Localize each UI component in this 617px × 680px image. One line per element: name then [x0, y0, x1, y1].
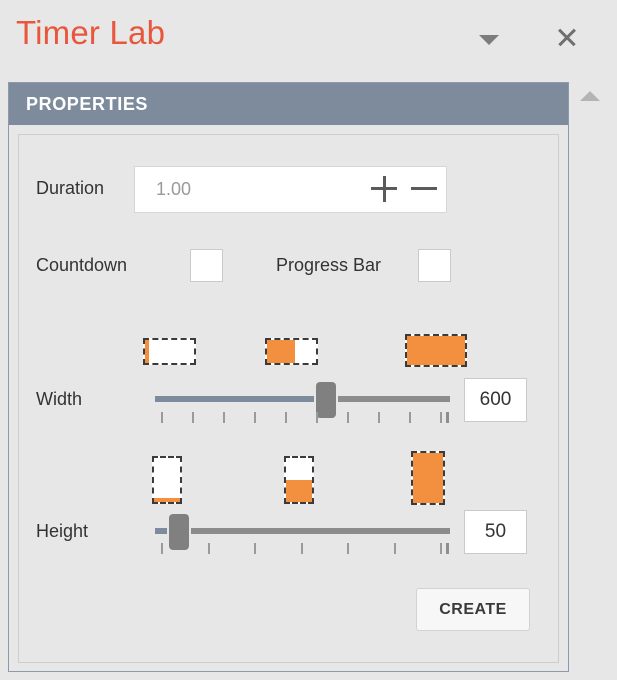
width-value-input[interactable]: 600 [464, 378, 527, 422]
slider-tick [316, 412, 318, 423]
chevron-down-icon [479, 35, 499, 45]
countdown-label: Countdown [36, 255, 127, 276]
properties-panel-title: PROPERTIES [26, 94, 148, 115]
close-button[interactable] [550, 20, 584, 54]
close-icon [550, 20, 584, 54]
height-value: 50 [465, 521, 526, 543]
width-preview-medium [265, 338, 318, 365]
slider-tick [394, 543, 396, 554]
height-preview-fill [286, 480, 312, 502]
plus-icon[interactable] [368, 172, 400, 206]
app-title: Timer Lab [16, 14, 165, 52]
width-label: Width [36, 389, 82, 410]
slider-tick [223, 412, 225, 423]
scrollbar-up-button[interactable] [578, 86, 602, 108]
progress-bar-label: Progress Bar [276, 255, 381, 276]
properties-panel-header: PROPERTIES [9, 83, 568, 125]
width-preview-fill [407, 336, 465, 365]
height-preview-fill [154, 498, 180, 502]
height-preview-small [152, 456, 182, 504]
slider-tick [378, 412, 380, 423]
width-preview-large [405, 334, 467, 367]
width-preview-fill [145, 340, 149, 363]
width-slider-ticks [155, 412, 450, 424]
title-bar: Timer Lab [0, 0, 617, 76]
width-slider-track [338, 396, 450, 402]
width-preview-small [143, 338, 196, 365]
progress-bar-checkbox[interactable] [418, 249, 451, 282]
duration-value: 1.00 [156, 179, 191, 200]
slider-tick [409, 412, 411, 423]
height-value-input[interactable]: 50 [464, 510, 527, 554]
slider-tick-end [446, 412, 449, 423]
minus-icon[interactable] [408, 172, 440, 206]
duration-label: Duration [36, 178, 104, 199]
window-menu-button[interactable] [472, 22, 506, 56]
countdown-checkbox[interactable] [190, 249, 223, 282]
height-label: Height [36, 521, 88, 542]
slider-tick [208, 543, 210, 554]
height-preview-medium [284, 456, 314, 504]
slider-tick [301, 543, 303, 554]
height-preview-large [411, 451, 445, 505]
create-button-label: CREATE [417, 601, 529, 619]
height-slider-ticks [155, 543, 450, 555]
slider-tick [192, 412, 194, 423]
slider-tick [254, 543, 256, 554]
height-preview-fill [413, 453, 443, 503]
create-button[interactable]: CREATE [416, 588, 530, 631]
width-value: 600 [465, 389, 526, 411]
slider-tick [440, 412, 442, 423]
slider-tick [254, 412, 256, 423]
slider-tick [347, 543, 349, 554]
slider-tick [440, 543, 442, 554]
triangle-up-icon [580, 91, 600, 101]
width-preview-fill [267, 340, 295, 363]
duration-input[interactable]: 1.00 [134, 166, 447, 213]
slider-tick [161, 543, 163, 554]
height-slider-track-filled [155, 528, 167, 534]
slider-tick [285, 412, 287, 423]
slider-tick [161, 412, 163, 423]
width-slider-track-filled [155, 396, 314, 402]
slider-tick [347, 412, 349, 423]
slider-tick-end [446, 543, 449, 554]
height-slider-track [191, 528, 450, 534]
